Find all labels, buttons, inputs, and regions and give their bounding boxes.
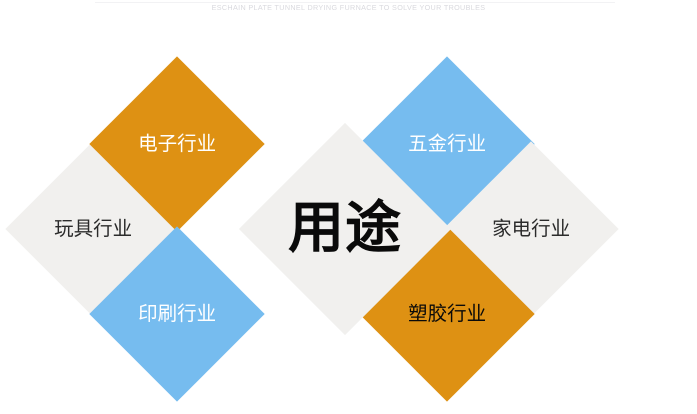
diamond-diagram: 玩具行业 电子行业 印刷行业 五金行业 家电行业 塑胶行业 用途 (0, 20, 697, 414)
banner-tagline: ESCHAIN PLATE TUNNEL DRYING FURNACE TO S… (0, 3, 697, 12)
diamond-node-center-label: 用途 (288, 201, 402, 257)
diamond-node-hardware-label: 五金行业 (408, 134, 486, 154)
diamond-node-appliances-label: 家电行业 (492, 219, 570, 239)
diamond-node-printing-label: 印刷行业 (138, 304, 216, 324)
diamond-node-toys-label: 玩具行业 (54, 219, 132, 239)
diamond-node-plastics-label: 塑胶行业 (408, 304, 486, 324)
diamond-node-electronics-label: 电子行业 (138, 134, 216, 154)
top-banner: ESCHAIN PLATE TUNNEL DRYING FURNACE TO S… (0, 0, 697, 20)
